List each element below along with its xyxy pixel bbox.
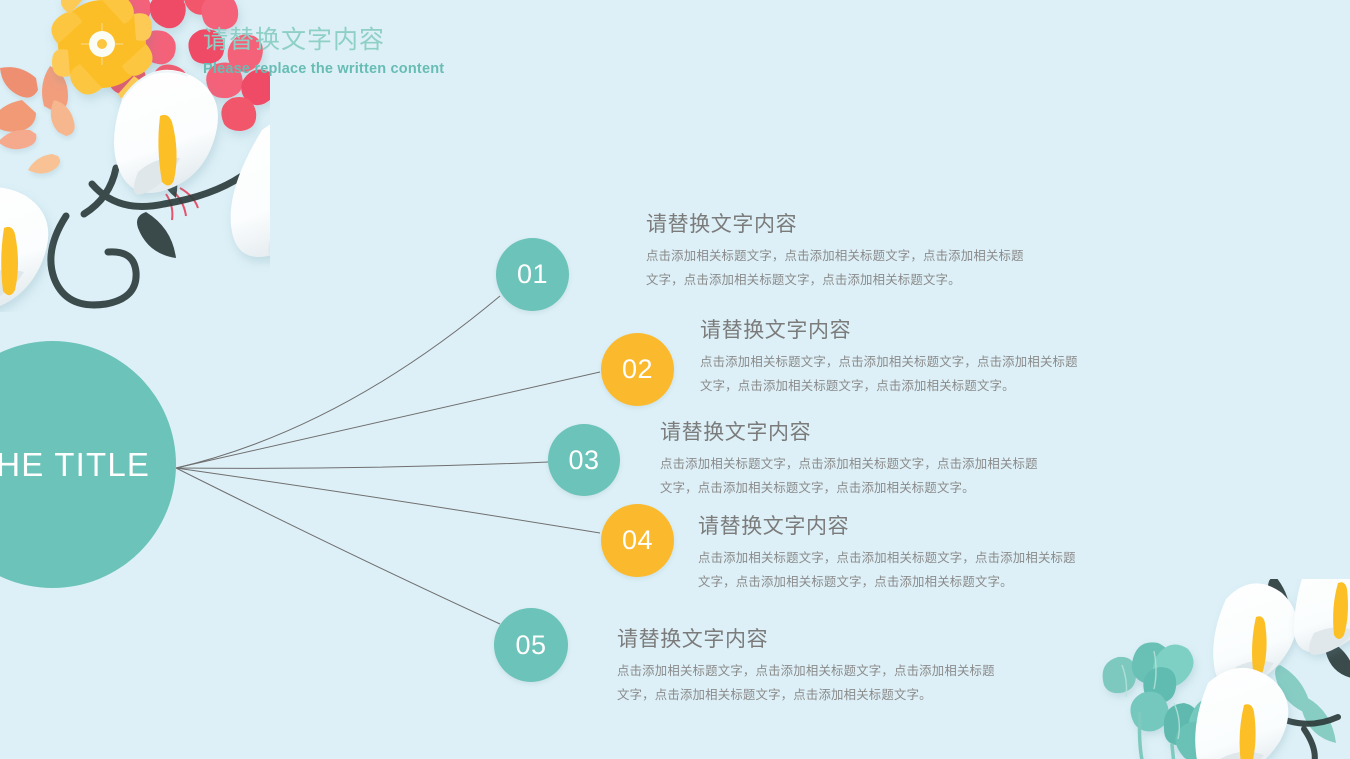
node-circle-02[interactable]: 02 xyxy=(601,333,674,406)
content-block-03: 请替换文字内容 点击添加相关标题文字，点击添加相关标题文字，点击添加相关标题文字… xyxy=(660,419,1050,501)
slide-header: 请替换文字内容 Please replace the written conte… xyxy=(203,25,723,77)
node-number-03: 03 xyxy=(568,445,599,476)
header-title-en: Please replace the written content xyxy=(203,61,723,77)
content-block-02: 请替换文字内容 点击添加相关标题文字，点击添加相关标题文字，点击添加相关标题文字… xyxy=(700,317,1090,399)
block-title-05: 请替换文字内容 xyxy=(617,626,1007,653)
node-number-04: 04 xyxy=(622,525,653,556)
block-body-01: 点击添加相关标题文字，点击添加相关标题文字，点击添加相关标题文字，点击添加相关标… xyxy=(646,244,1036,292)
block-body-04: 点击添加相关标题文字，点击添加相关标题文字，点击添加相关标题文字，点击添加相关标… xyxy=(698,546,1088,594)
node-circle-03[interactable]: 03 xyxy=(548,424,620,496)
node-circle-01[interactable]: 01 xyxy=(496,238,569,311)
node-circle-05[interactable]: 05 xyxy=(494,608,568,682)
node-circle-04[interactable]: 04 xyxy=(601,504,674,577)
block-title-01: 请替换文字内容 xyxy=(646,211,1036,238)
content-block-04: 请替换文字内容 点击添加相关标题文字，点击添加相关标题文字，点击添加相关标题文字… xyxy=(698,513,1088,595)
block-body-03: 点击添加相关标题文字，点击添加相关标题文字，点击添加相关标题文字，点击添加相关标… xyxy=(660,452,1050,500)
node-number-02: 02 xyxy=(622,354,653,385)
block-body-05: 点击添加相关标题文字，点击添加相关标题文字，点击添加相关标题文字，点击添加相关标… xyxy=(617,659,1007,707)
header-title-cn: 请替换文字内容 xyxy=(203,25,723,56)
content-block-05: 请替换文字内容 点击添加相关标题文字，点击添加相关标题文字，点击添加相关标题文字… xyxy=(617,626,1007,708)
block-body-02: 点击添加相关标题文字，点击添加相关标题文字，点击添加相关标题文字，点击添加相关标… xyxy=(700,350,1090,398)
block-title-04: 请替换文字内容 xyxy=(698,513,1088,540)
node-number-01: 01 xyxy=(517,259,548,290)
slide-canvas: 请替换文字内容 Please replace the written conte… xyxy=(0,0,1350,759)
center-title-circle[interactable]: THE TITLE xyxy=(0,341,176,588)
floral-decoration-bottom-right xyxy=(1098,579,1350,759)
block-title-02: 请替换文字内容 xyxy=(700,317,1090,344)
block-title-03: 请替换文字内容 xyxy=(660,419,1050,446)
center-title-label: THE TITLE xyxy=(0,446,150,484)
content-block-01: 请替换文字内容 点击添加相关标题文字，点击添加相关标题文字，点击添加相关标题文字… xyxy=(646,211,1036,293)
node-number-05: 05 xyxy=(515,630,546,661)
